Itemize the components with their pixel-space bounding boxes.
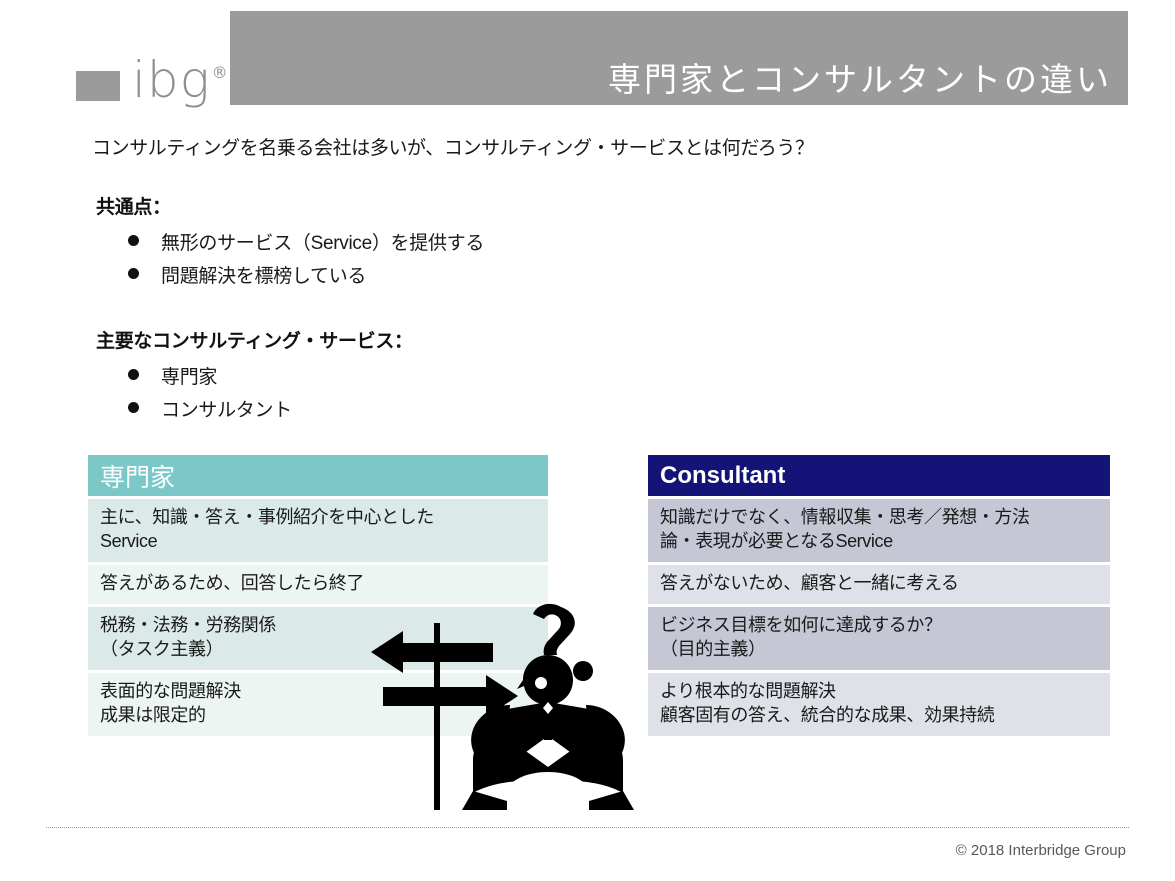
table-row: ビジネス目標を如何に達成するか？ （目的主義） <box>648 607 1110 670</box>
footer-divider <box>46 827 1129 828</box>
comparison-table-consultant: Consultant 知識だけでなく、情報収集・思考／発想・方法 論・表現が必要… <box>648 455 1110 736</box>
table-row: より根本的な問題解決 顧客固有の答え、統合的な成果、効果持続 <box>648 673 1110 736</box>
table-cell-line: 税務・法務・労務関係 <box>100 614 538 638</box>
table-cell-line: 答えがあるため、回答したら終了 <box>100 572 538 596</box>
bullet-group-common-points: 共通点： 無形のサービス（Service）を提供する 問題解決を標榜している <box>96 192 484 294</box>
list-item: コンサルタント <box>128 395 413 422</box>
table-cell-line: より根本的な問題解決 <box>660 680 1100 704</box>
bullet-label: 無形のサービス（Service）を提供する <box>161 228 484 255</box>
table-cell-line: 主に、知識・答え・事例紹介を中心とした <box>100 506 538 530</box>
table-row: 税務・法務・労務関係 （タスク主義） <box>88 607 548 670</box>
bullet-group-main-services: 主要なコンサルティング・サービス： 専門家 コンサルタント <box>96 326 413 428</box>
logo-square-icon <box>76 71 120 101</box>
list-item: 無形のサービス（Service）を提供する <box>128 228 484 255</box>
title-bar: 専門家とコンサルタントの違い <box>230 11 1128 105</box>
table-cell-line: （タスク主義） <box>100 638 538 662</box>
table-cell-line: ビジネス目標を如何に達成するか？ <box>660 614 1100 638</box>
group-title: 主要なコンサルティング・サービス： <box>96 326 413 353</box>
group-title: 共通点： <box>96 192 484 219</box>
bullet-dot-icon <box>128 235 139 246</box>
bullet-dot-icon <box>128 402 139 413</box>
table-header-consultant: Consultant <box>648 455 1110 496</box>
bullet-label: 専門家 <box>161 362 217 389</box>
table-cell-line: 知識だけでなく、情報収集・思考／発想・方法 <box>660 506 1100 530</box>
table-cell-line: 論・表現が必要となるService <box>660 530 1100 554</box>
table-cell-line: （目的主義） <box>660 638 1100 662</box>
table-row: 答えがあるため、回答したら終了 <box>88 565 548 604</box>
bullet-label: コンサルタント <box>161 395 292 422</box>
lead-sentence: コンサルティングを名乗る会社は多いが、コンサルティング・サービスとは何だろう？ <box>92 133 814 160</box>
table-row: 表面的な問題解決 成果は限定的 <box>88 673 548 736</box>
table-cell-line: 表面的な問題解決 <box>100 680 538 704</box>
bullet-dot-icon <box>128 268 139 279</box>
table-row: 主に、知識・答え・事例紹介を中心とした Service <box>88 499 548 562</box>
table-row: 答えがないため、顧客と一緒に考える <box>648 565 1110 604</box>
page-title: 専門家とコンサルタントの違い <box>608 63 1112 99</box>
logo-wordmark: ibg <box>132 57 211 103</box>
table-cell-line: 顧客固有の答え、統合的な成果、効果持続 <box>660 704 1100 728</box>
table-header-specialist: 専門家 <box>88 455 548 496</box>
logo: ibg ® <box>76 57 228 103</box>
table-cell-line: 成果は限定的 <box>100 704 538 728</box>
comparison-table-specialist: 専門家 主に、知識・答え・事例紹介を中心とした Service 答えがあるため、… <box>88 455 548 736</box>
bullet-dot-icon <box>128 369 139 380</box>
footer-copyright: © 2018 Interbridge Group <box>956 842 1126 859</box>
table-cell-line: Service <box>100 530 538 554</box>
registered-trademark-icon: ® <box>212 63 228 82</box>
table-cell-line: 答えがないため、顧客と一緒に考える <box>660 572 1100 596</box>
bullet-label: 問題解決を標榜している <box>161 261 366 288</box>
list-item: 問題解決を標榜している <box>128 261 484 288</box>
slide: 専門家とコンサルタントの違い ibg ® コンサルティングを名乗る会社は多いが、… <box>0 0 1175 881</box>
table-row: 知識だけでなく、情報収集・思考／発想・方法 論・表現が必要となるService <box>648 499 1110 562</box>
list-item: 専門家 <box>128 362 413 389</box>
